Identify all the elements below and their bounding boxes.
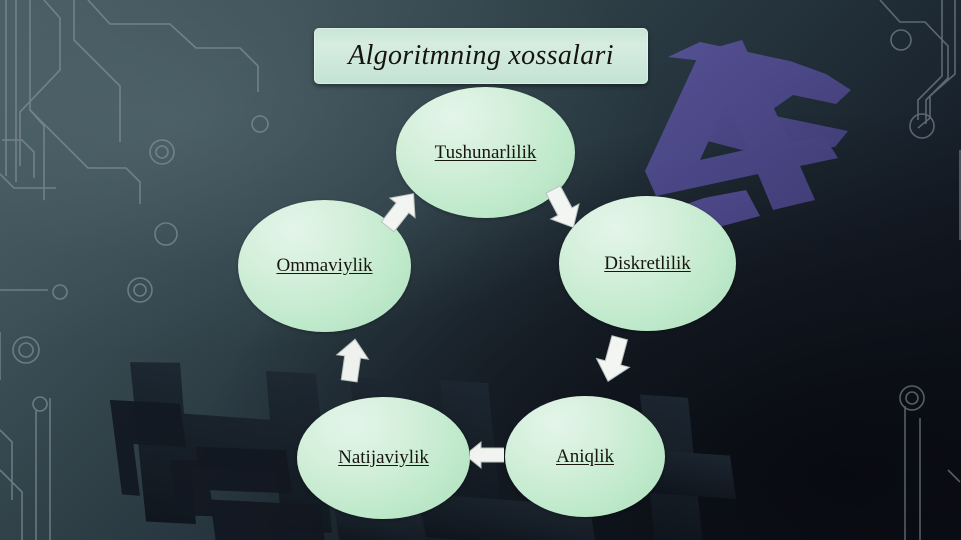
node-natijaviylik[interactable]: Natijaviylik: [297, 397, 470, 519]
page-title: Algoritmning xossalari: [348, 40, 614, 72]
node-ommaviylik[interactable]: Ommaviylik: [238, 200, 411, 332]
slide-title-box: Algoritmning xossalari: [314, 28, 648, 84]
circuit-traces-right: [880, 0, 960, 540]
node-tushunarlilik[interactable]: Tushunarlilik: [396, 87, 575, 218]
node-label-tushunarlilik: Tushunarlilik: [435, 142, 537, 164]
node-diskretlilik[interactable]: Diskretlilik: [559, 196, 736, 331]
node-label-diskretlilik: Diskretlilik: [604, 253, 691, 275]
circuit-traces-left: [0, 0, 268, 540]
arrow-diskretlilik-to-aniqlik: [590, 333, 638, 385]
node-label-ommaviylik: Ommaviylik: [276, 255, 372, 277]
node-label-aniqlik: Aniqlik: [556, 446, 614, 468]
node-label-natijaviylik: Natijaviylik: [338, 447, 429, 469]
node-aniqlik[interactable]: Aniqlik: [505, 396, 665, 517]
arrow-natijaviylik-to-ommaviylik: [330, 337, 374, 385]
presentation-slide: Algoritmning xossalari Tushunarlilik Dis…: [0, 0, 961, 540]
arrow-aniqlik-to-natijaviylik: [470, 429, 504, 481]
